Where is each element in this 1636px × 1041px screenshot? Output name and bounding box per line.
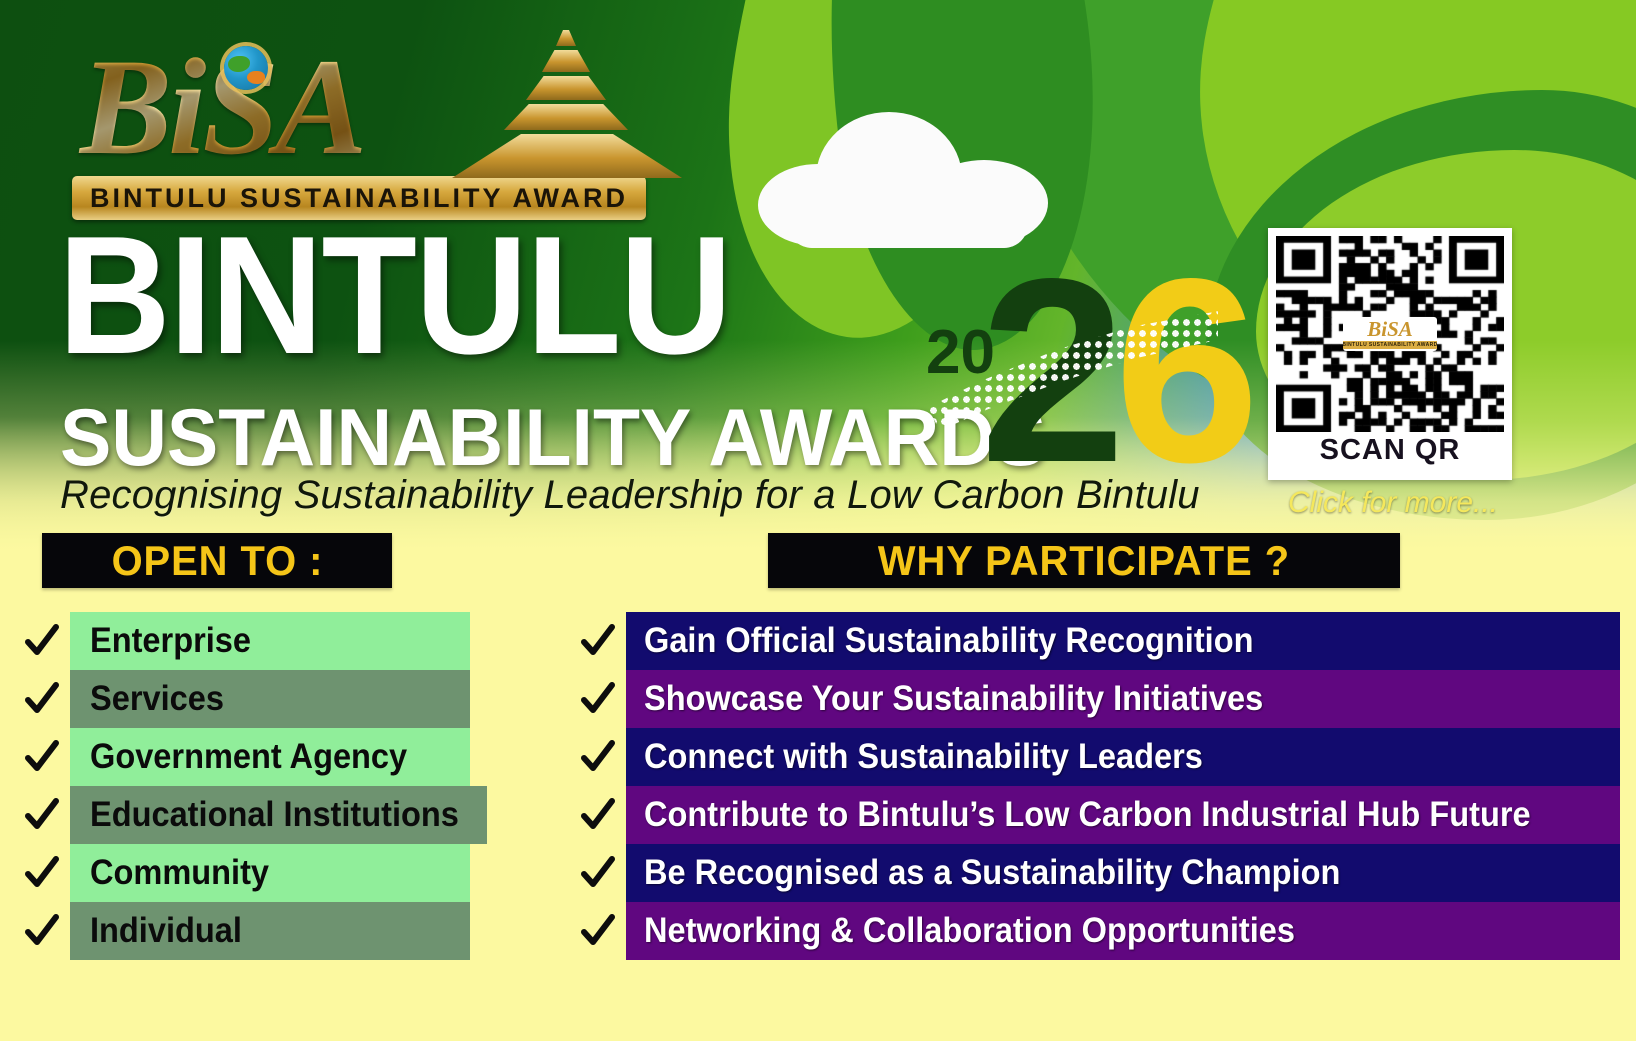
check-icon — [14, 737, 70, 777]
list-item: Be Recognised as a Sustainability Champi… — [570, 844, 1620, 902]
list-item: Individual — [14, 902, 470, 960]
list-item-bar: Enterprise — [70, 612, 470, 670]
check-icon — [14, 621, 70, 661]
list-item: Gain Official Sustainability Recognition — [570, 612, 1620, 670]
check-icon — [14, 911, 70, 951]
list-item-label: Educational Institutions — [90, 795, 459, 835]
poster: BiSA BINTULU SUSTAINABILITY AWARD BINTUL… — [0, 0, 1636, 1041]
globe-icon — [224, 46, 268, 90]
list-item: Services — [14, 670, 470, 728]
list-item-label: Government Agency — [90, 737, 407, 777]
list-item: Government Agency — [14, 728, 470, 786]
bisa-logo: BiSA BINTULU SUSTAINABILITY AWARD — [72, 22, 682, 217]
list-item-bar: Showcase Your Sustainability Initiatives — [626, 670, 1620, 728]
year-digit-two: 2 — [980, 240, 1126, 502]
check-icon — [570, 737, 626, 777]
check-icon — [14, 853, 70, 893]
check-icon — [570, 621, 626, 661]
tower-icon — [452, 30, 682, 180]
qr-embedded-logo: BiSA BINTULU SUSTAINABILITY AWARD — [1343, 317, 1437, 351]
list-item-bar: Government Agency — [70, 728, 470, 786]
qr-click-link[interactable]: Click for more... — [1268, 486, 1518, 520]
list-item: Contribute to Bintulu’s Low Carbon Indus… — [570, 786, 1620, 844]
list-item-bar: Networking & Collaboration Opportunities — [626, 902, 1620, 960]
page-title: BINTULU — [58, 222, 731, 370]
cloud-icon — [758, 112, 1048, 240]
list-item-label: Individual — [90, 911, 242, 951]
page-subtitle: SUSTAINABILITY AWARDS — [60, 392, 1046, 485]
list-item-label: Gain Official Sustainability Recognition — [644, 621, 1253, 661]
list-item-label: Contribute to Bintulu’s Low Carbon Indus… — [644, 795, 1531, 835]
list-item: Enterprise — [14, 612, 470, 670]
year-graphic: 2 6 20 — [918, 246, 1218, 496]
list-item: Community — [14, 844, 470, 902]
list-item: Connect with Sustainability Leaders — [570, 728, 1620, 786]
list-item: Networking & Collaboration Opportunities — [570, 902, 1620, 960]
list-item-bar: Connect with Sustainability Leaders — [626, 728, 1620, 786]
list-item-label: Connect with Sustainability Leaders — [644, 737, 1203, 777]
list-item-label: Be Recognised as a Sustainability Champi… — [644, 853, 1340, 893]
list-item-label: Networking & Collaboration Opportunities — [644, 911, 1295, 951]
list-item: Educational Institutions — [14, 786, 470, 844]
check-icon — [570, 795, 626, 835]
list-item-label: Community — [90, 853, 269, 893]
year-prefix: 20 — [926, 322, 995, 384]
year-digit-six: 6 — [1114, 240, 1260, 502]
why-participate-header: WHY PARTICIPATE ? — [768, 533, 1400, 588]
list-item-label: Enterprise — [90, 621, 251, 661]
logo-wordmark: BiSA — [72, 41, 363, 172]
list-item-bar: Individual — [70, 902, 470, 960]
check-icon — [570, 911, 626, 951]
check-icon — [570, 853, 626, 893]
qr-code-card[interactable]: BiSA BINTULU SUSTAINABILITY AWARD SCAN Q… — [1268, 228, 1512, 480]
list-item-bar: Be Recognised as a Sustainability Champi… — [626, 844, 1620, 902]
open-to-header: OPEN TO : — [42, 533, 392, 588]
qr-embedded-wordmark: BiSA — [1367, 319, 1413, 340]
qr-embedded-band: BINTULU SUSTAINABILITY AWARD — [1343, 341, 1437, 349]
list-item-label: Showcase Your Sustainability Initiatives — [644, 679, 1263, 719]
check-icon — [14, 679, 70, 719]
list-item: Showcase Your Sustainability Initiatives — [570, 670, 1620, 728]
check-icon — [14, 795, 70, 835]
list-item-bar: Educational Institutions — [70, 786, 487, 844]
open-to-header-label: OPEN TO : — [111, 537, 323, 585]
logo-mark: BiSA — [72, 22, 682, 172]
check-icon — [570, 679, 626, 719]
qr-code-image[interactable]: BiSA BINTULU SUSTAINABILITY AWARD — [1276, 236, 1504, 432]
list-item-bar: Gain Official Sustainability Recognition — [626, 612, 1620, 670]
qr-caption: SCAN QR — [1276, 434, 1504, 467]
why-participate-header-label: WHY PARTICIPATE ? — [878, 537, 1290, 585]
list-item-bar: Contribute to Bintulu’s Low Carbon Indus… — [626, 786, 1620, 844]
open-to-list: Enterprise Services Government Agency — [14, 612, 470, 960]
why-participate-list: Gain Official Sustainability Recognition… — [570, 612, 1620, 960]
list-item-bar: Services — [70, 670, 470, 728]
list-item-label: Services — [90, 679, 224, 719]
list-item-bar: Community — [70, 844, 470, 902]
